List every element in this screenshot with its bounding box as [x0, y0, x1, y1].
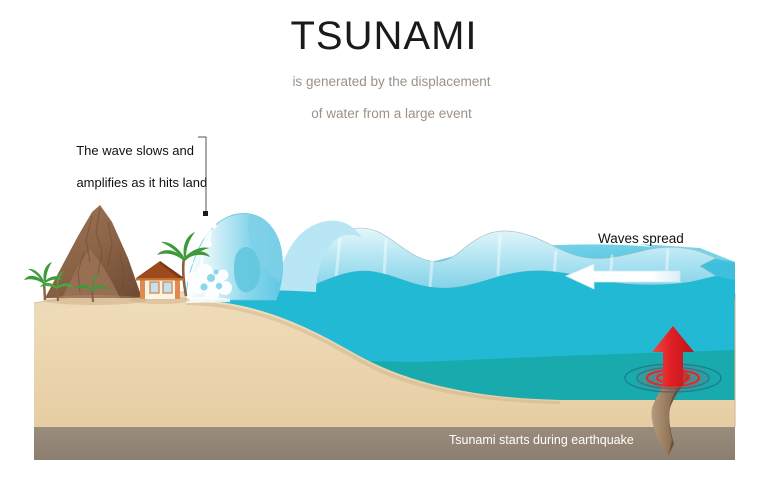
leader-dot-icon — [203, 211, 208, 216]
infographic-canvas: TSUNAMI is generated by the displacement… — [0, 0, 768, 480]
page-title: TSUNAMI — [0, 14, 768, 59]
callout-line-1: The wave slows and — [76, 143, 194, 158]
mountain-icon — [43, 205, 147, 305]
page-subtitle: is generated by the displacement of wate… — [0, 58, 768, 138]
callout-line-2: amplifies as it hits land — [76, 175, 207, 190]
house-icon — [130, 261, 190, 304]
label-tsunami-starts: Tsunami starts during earthquake — [449, 433, 634, 447]
callout-wave-slows: The wave slows and amplifies as it hits … — [62, 127, 207, 207]
subtitle-line-2: of water from a large event — [311, 106, 472, 121]
subtitle-line-1: is generated by the displacement — [292, 74, 490, 89]
label-waves-spread: Waves spread — [598, 231, 684, 246]
